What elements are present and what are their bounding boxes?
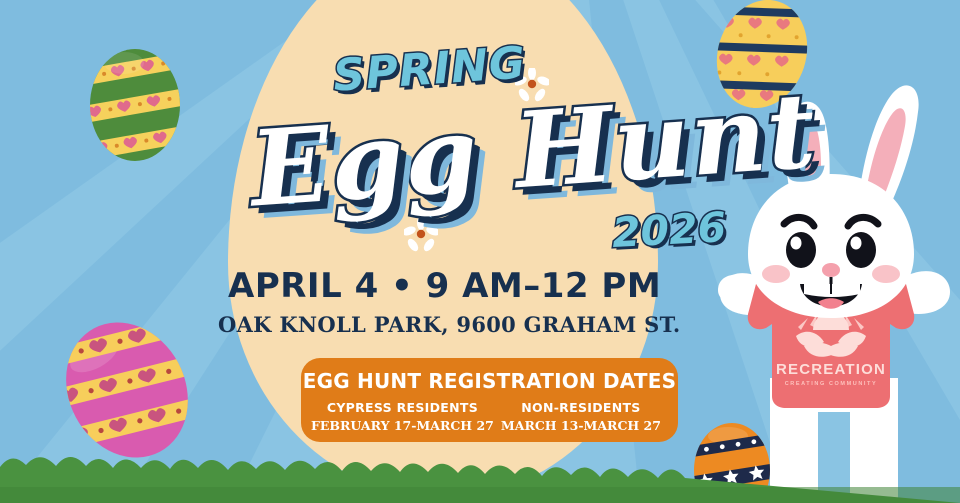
event-datetime: APRIL 4 • 9 AM–12 PM bbox=[228, 266, 658, 306]
title-main: Egg Hunt bbox=[246, 68, 820, 230]
poster-canvas: CYPRESS RECREATION CREATING COMMUNITY bbox=[0, 0, 960, 503]
registration-audience: NON-RESIDENTS bbox=[494, 400, 668, 415]
registration-column-nonresidents: NON-RESIDENTS MARCH 13-MARCH 27 bbox=[494, 400, 668, 433]
title-year: 2026 bbox=[611, 203, 727, 257]
registration-audience: CYPRESS RESIDENTS bbox=[311, 400, 494, 415]
bunny-head bbox=[748, 174, 914, 318]
event-venue: OAK KNOLL PARK, 9600 GRAHAM ST. bbox=[218, 312, 668, 337]
registration-badge: EGG HUNT REGISTRATION DATES CYPRESS RESI… bbox=[301, 358, 678, 442]
registration-columns: CYPRESS RESIDENTS FEBRUARY 17-MARCH 27 N… bbox=[301, 400, 678, 433]
grass-bushes bbox=[0, 441, 960, 503]
registration-heading: EGG HUNT REGISTRATION DATES bbox=[301, 369, 678, 393]
shirt-logo-tagline: CREATING COMMUNITY bbox=[785, 381, 878, 387]
registration-column-residents: CYPRESS RESIDENTS FEBRUARY 17-MARCH 27 bbox=[311, 400, 494, 433]
registration-dates: MARCH 13-MARCH 27 bbox=[494, 418, 668, 433]
headline-group: SPRING Egg Hunt 2026 bbox=[0, 0, 760, 260]
registration-dates: FEBRUARY 17-MARCH 27 bbox=[311, 418, 494, 433]
shirt-logo-bottom: RECREATION bbox=[776, 361, 886, 378]
